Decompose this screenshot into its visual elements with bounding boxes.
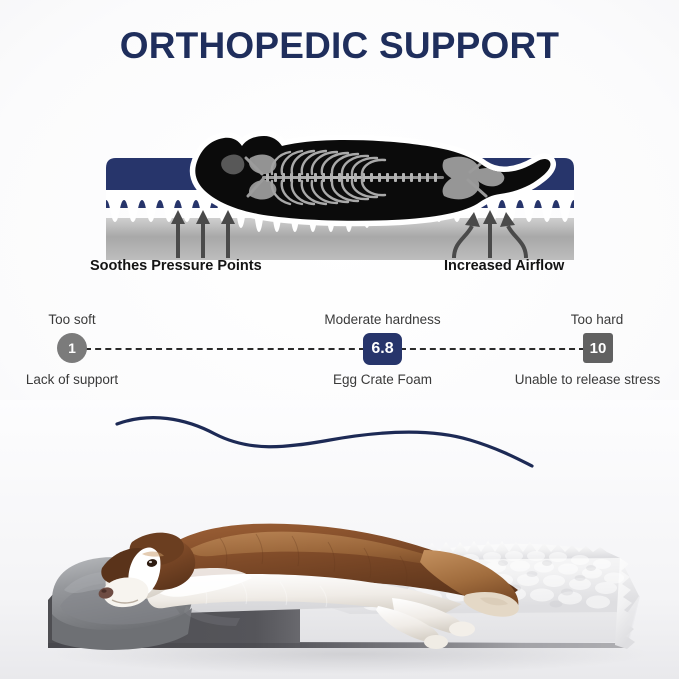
soothes-pressure-points-label: Soothes Pressure Points [90,258,262,274]
scale-marker-min: 1 [57,333,87,363]
firmness-scale: Too soft Moderate hardness Too hard 1 6.… [0,300,679,400]
dog-paw [424,635,448,649]
page-title: ORTHOPEDIC SUPPORT [0,25,679,67]
scale-label-egg-crate-foam: Egg Crate Foam [310,372,455,387]
dog-on-bed-photo [0,400,679,679]
scale-label-unable-to-release-stress: Unable to release stress [500,372,675,387]
infographic-page: ORTHOPEDIC SUPPORT [0,0,679,679]
scale-label-too-hard: Too hard [536,312,658,327]
increased-airflow-label: Increased Airflow [444,258,564,274]
scale-label-moderate-hardness: Moderate hardness [310,312,455,327]
scale-dashed-line-right [400,348,585,350]
scale-dashed-line-left [85,348,365,350]
scale-marker-product: 6.8 [363,333,402,365]
scale-marker-max: 10 [583,333,613,363]
dog-paw [449,622,475,637]
scale-label-too-soft: Too soft [11,312,133,327]
scale-label-lack-of-support: Lack of support [8,372,136,387]
